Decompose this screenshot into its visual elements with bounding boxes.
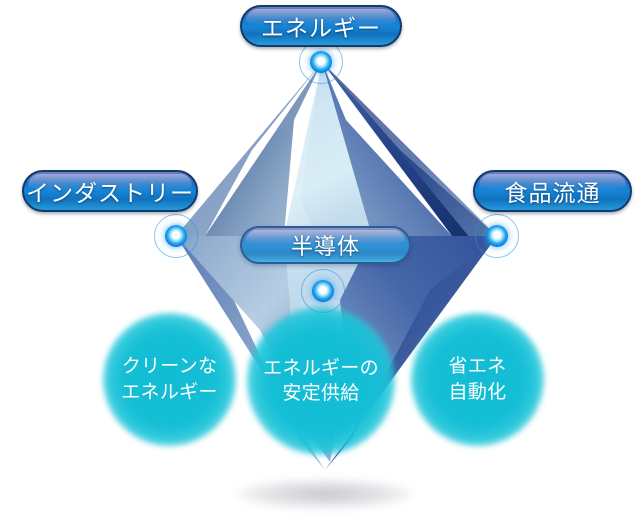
node-button-label: 食品流通 — [505, 174, 601, 208]
marker-dot — [312, 280, 334, 302]
vertex-marker-food-icon — [474, 213, 520, 259]
vertex-marker-industry-icon — [153, 213, 199, 259]
benefit-label: 省エネ 自動化 — [449, 354, 507, 404]
benefit-label-line1: エネルギーの — [263, 356, 379, 381]
node-button-label: エネルギー — [261, 9, 381, 43]
node-button-food-distribution[interactable]: 食品流通 — [473, 170, 632, 212]
benefit-clean-energy: クリーンな エネルギー — [103, 313, 236, 446]
marker-dot — [310, 51, 332, 73]
ground-shadow — [237, 479, 413, 509]
node-button-energy[interactable]: エネルギー — [240, 5, 402, 47]
node-button-industry[interactable]: インダストリー — [22, 170, 198, 212]
node-button-label: インダストリー — [26, 174, 194, 208]
benefit-label-line2: 安定供給 — [263, 381, 379, 406]
benefit-stable-supply: エネルギーの 安定供給 — [247, 307, 395, 455]
benefit-label-line1: 省エネ — [449, 354, 507, 379]
benefit-label: エネルギーの 安定供給 — [263, 356, 379, 406]
marker-dot — [165, 225, 187, 247]
benefit-label-line1: クリーンな — [121, 354, 218, 379]
benefit-label-line2: 自動化 — [449, 380, 507, 405]
benefit-label-line2: エネルギー — [121, 380, 218, 405]
vertex-marker-semiconductor-icon — [300, 268, 346, 314]
marker-dot — [486, 225, 508, 247]
benefit-energy-saving: 省エネ 自動化 — [411, 313, 544, 446]
node-button-label: 半導体 — [291, 229, 360, 261]
benefit-label: クリーンな エネルギー — [121, 354, 218, 404]
diagram-canvas: クリーンな エネルギー エネルギーの 安定供給 省エネ 自動化 エネ — [0, 0, 640, 521]
node-button-semiconductor[interactable]: 半導体 — [240, 226, 411, 264]
